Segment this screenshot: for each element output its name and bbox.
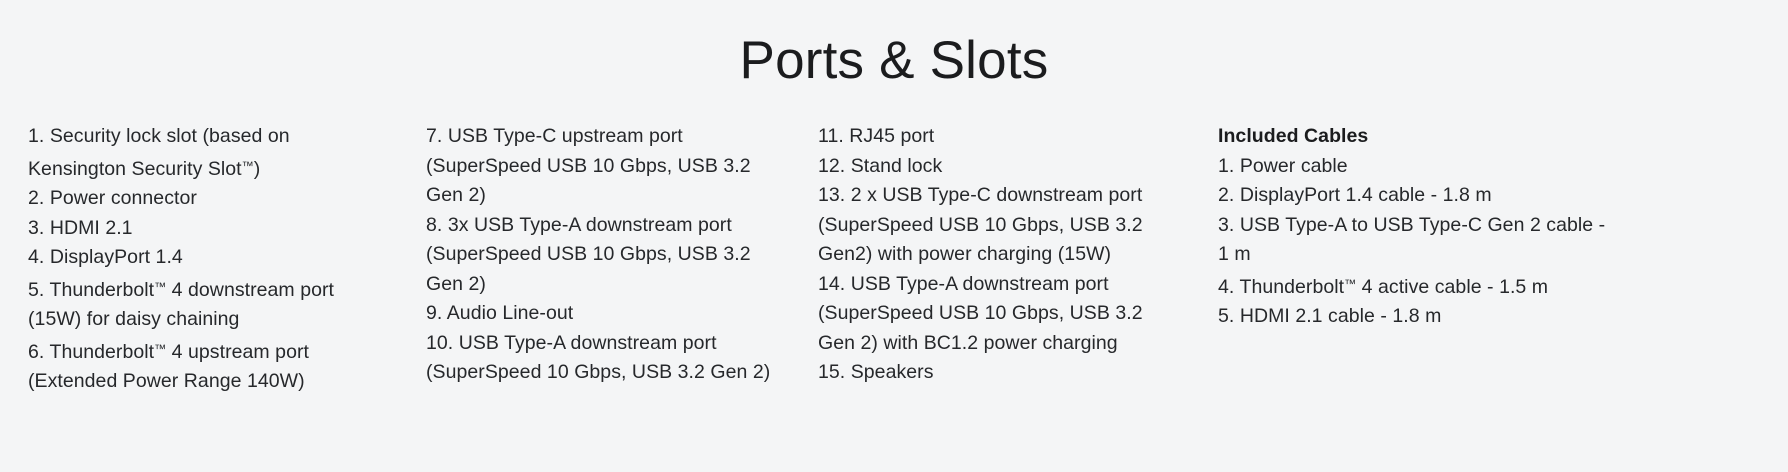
list-item-text: 2. Power connector [28, 187, 197, 209]
list-item: 1. Power cable [1218, 152, 1614, 182]
list-item: 15. Speakers [818, 358, 1182, 388]
list-item-text: 1. Power cable [1218, 155, 1348, 177]
ports-list-2: 7. USB Type-C upstream port (SuperSpeed … [426, 122, 782, 388]
list-item: 6. Thunderbolt™ 4 upstream port (Extende… [28, 335, 390, 397]
list-item: 2. DisplayPort 1.4 cable - 1.8 m [1218, 181, 1614, 211]
list-item: 9. Audio Line-out [426, 299, 782, 329]
list-item: 5. Thunderbolt™ 4 downstream port (15W) … [28, 273, 390, 335]
list-item: 11. RJ45 port [818, 122, 1182, 152]
page-title: Ports & Slots [0, 0, 1788, 94]
list-item: 4. DisplayPort 1.4 [28, 243, 390, 273]
list-item: 7. USB Type-C upstream port (SuperSpeed … [426, 122, 782, 211]
list-item: 10. USB Type-A downstream port (SuperSpe… [426, 329, 782, 388]
included-cables-list: 1. Power cable 2. DisplayPort 1.4 cable … [1218, 152, 1614, 332]
trademark-glyph: ™ [242, 159, 254, 173]
ports-column-2: 7. USB Type-C upstream port (SuperSpeed … [426, 122, 818, 388]
list-item-text: 8. 3x USB Type-A downstream port (SuperS… [426, 214, 751, 295]
list-item: 3. HDMI 2.1 [28, 214, 390, 244]
ports-column-3: 11. RJ45 port 12. Stand lock 13. 2 x USB… [818, 122, 1218, 388]
list-item: 8. 3x USB Type-A downstream port (SuperS… [426, 211, 782, 300]
list-item-text: 5. HDMI 2.1 cable - 1.8 m [1218, 305, 1441, 327]
list-item: 12. Stand lock [818, 152, 1182, 182]
list-item-text: 4. DisplayPort 1.4 [28, 246, 183, 268]
list-item-text: 3. HDMI 2.1 [28, 217, 133, 239]
list-item-text: 12. Stand lock [818, 155, 942, 177]
list-item-text: 9. Audio Line-out [426, 302, 573, 324]
list-item: 2. Power connector [28, 184, 390, 214]
list-item-text: 7. USB Type-C upstream port (SuperSpeed … [426, 125, 751, 206]
list-item-text: 4. Thunderbolt™ 4 active cable - 1.5 m [1218, 276, 1548, 298]
included-cables-heading: Included Cables [1218, 122, 1614, 152]
list-item: 1. Security lock slot (based on Kensingt… [28, 122, 390, 184]
list-item-text: 11. RJ45 port [818, 125, 934, 147]
list-item-text: 2. DisplayPort 1.4 cable - 1.8 m [1218, 184, 1492, 206]
included-cables-column: Included Cables 1. Power cable 2. Displa… [1218, 122, 1622, 332]
trademark-glyph: ™ [1344, 277, 1356, 291]
list-item: 13. 2 x USB Type-C downstream port (Supe… [818, 181, 1182, 270]
list-item: 3. USB Type-A to USB Type-C Gen 2 cable … [1218, 211, 1614, 270]
list-item-text: 10. USB Type-A downstream port (SuperSpe… [426, 332, 770, 384]
trademark-glyph: ™ [154, 342, 166, 356]
ports-list-1: 1. Security lock slot (based on Kensingt… [28, 122, 390, 397]
list-item-text: 15. Speakers [818, 361, 934, 383]
trademark-glyph: ™ [154, 280, 166, 294]
list-item-text: 13. 2 x USB Type-C downstream port (Supe… [818, 184, 1143, 265]
list-item: 4. Thunderbolt™ 4 active cable - 1.5 m [1218, 270, 1614, 303]
ports-list-3: 11. RJ45 port 12. Stand lock 13. 2 x USB… [818, 122, 1182, 388]
columns-container: 1. Security lock slot (based on Kensingt… [0, 122, 1788, 397]
list-item-text: 5. Thunderbolt™ 4 downstream port (15W) … [28, 279, 334, 331]
list-item: 14. USB Type-A downstream port (SuperSpe… [818, 270, 1182, 359]
ports-and-slots-page: Ports & Slots 1. Security lock slot (bas… [0, 0, 1788, 472]
list-item: 5. HDMI 2.1 cable - 1.8 m [1218, 302, 1614, 332]
list-item-text: 3. USB Type-A to USB Type-C Gen 2 cable … [1218, 214, 1605, 266]
list-item-text: 1. Security lock slot (based on Kensingt… [28, 125, 290, 180]
list-item-text: 6. Thunderbolt™ 4 upstream port (Extende… [28, 341, 309, 393]
list-item-text: 14. USB Type-A downstream port (SuperSpe… [818, 273, 1143, 354]
ports-column-1: 1. Security lock slot (based on Kensingt… [28, 122, 426, 397]
